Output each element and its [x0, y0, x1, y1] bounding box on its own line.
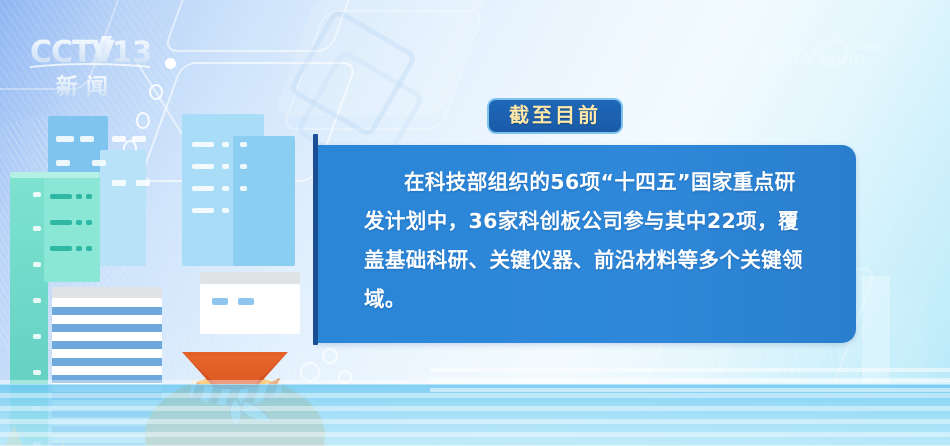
hexagon-outline-upper	[163, 0, 370, 52]
panel-body-text: 在科技部组织的56项“十四五”国家重点研发计划中，36家科创板公司参与其中22项…	[364, 163, 816, 319]
city-illustration	[0, 120, 345, 395]
broadcast-graphic-stage: CCTV 13 新闻 CCTV com 央视网	[0, 0, 950, 446]
bottom-stripe-band-right	[430, 368, 950, 394]
hexagon-outline-center	[281, 10, 485, 130]
building-back-far-right	[233, 136, 295, 266]
cctv-13-logo: CCTV 13 新闻	[28, 30, 153, 98]
svg-text:央视网: 央视网	[854, 41, 881, 53]
svg-text:新闻: 新闻	[56, 74, 116, 98]
soft-hexagon-one	[287, 7, 418, 138]
bubble-medium	[300, 362, 320, 382]
bubble-small	[322, 348, 338, 364]
hexagon-fill-top	[273, 0, 487, 116]
main-text-panel: 在科技部组织的56项“十四五”国家重点研发计划中，36家科创板公司参与其中22项…	[318, 145, 856, 343]
svg-text:CCTV: CCTV	[762, 45, 818, 67]
cctv-com-watermark: CCTV com 央视网	[762, 36, 890, 72]
building-back-mid	[100, 150, 146, 266]
building-small	[200, 284, 300, 334]
headline-badge: 截至目前	[487, 98, 623, 134]
